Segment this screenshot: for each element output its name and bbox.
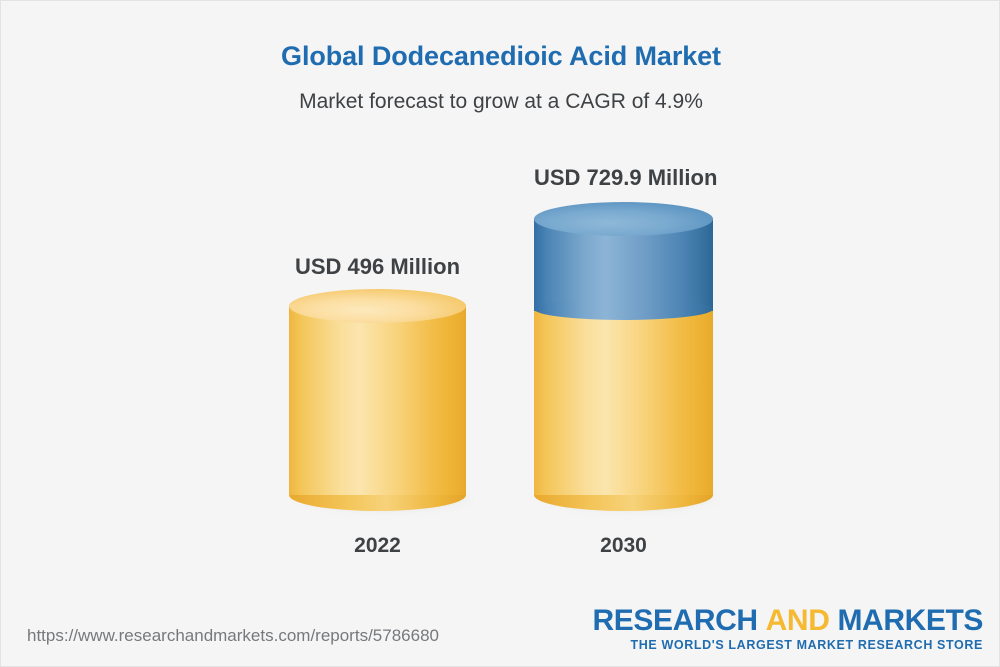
bar-body-yellow-2030 [534, 306, 713, 495]
bar-blue-seam-2030 [534, 298, 713, 320]
logo-word-research: RESEARCH [593, 604, 758, 637]
bar-value-label-2030: USD 729.9 Million [534, 165, 713, 191]
bar-top-cap-2030 [534, 202, 713, 236]
bar-2030[interactable] [534, 202, 713, 521]
category-label-2030: 2030 [534, 534, 713, 558]
category-label-2022: 2022 [289, 534, 466, 558]
brand-logo[interactable]: RESEARCHANDMARKETS THE WORLD'S LARGEST M… [593, 605, 983, 653]
report-url[interactable]: https://www.researchandmarkets.com/repor… [27, 626, 439, 646]
bar-value-label-2022: USD 496 Million [289, 254, 466, 280]
plot-area: USD 496 Million 2022 USD 729.9 Million [1, 1, 1000, 667]
logo-word-and: AND [766, 604, 830, 637]
bar-2022[interactable] [289, 289, 466, 521]
chart-canvas: Global Dodecanedioic Acid Market Market … [0, 0, 1000, 667]
bar-body-yellow-2022 [289, 306, 466, 495]
logo-word-markets: MARKETS [837, 604, 983, 637]
logo-wordmark: RESEARCHANDMARKETS [593, 605, 983, 637]
bar-top-cap-2022 [289, 289, 466, 323]
logo-tagline: THE WORLD'S LARGEST MARKET RESEARCH STOR… [593, 638, 983, 652]
